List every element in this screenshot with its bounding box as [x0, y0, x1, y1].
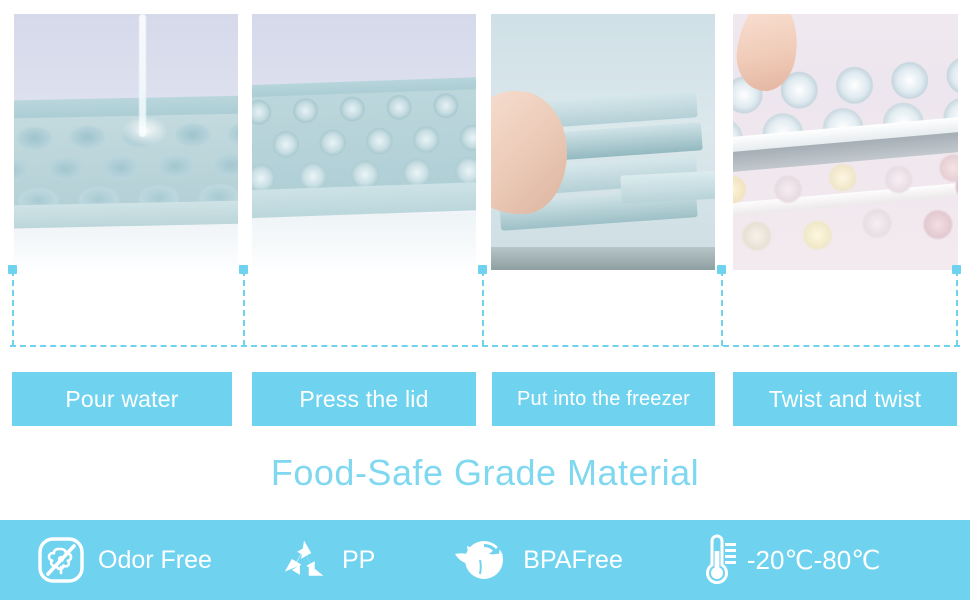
- feature-label-bpa-free: BPAFree: [523, 546, 623, 575]
- odor-free-icon: [36, 535, 86, 585]
- step-photo-twist: [733, 14, 958, 270]
- feature-bpa-free: BPAFree: [453, 520, 623, 600]
- feature-bar: Odor Free PP: [0, 520, 970, 600]
- feature-bar-dashed-divider: [0, 518, 970, 520]
- step-photo-strip: [0, 0, 970, 270]
- connector-line-vertical: [721, 270, 723, 346]
- step-photo-pour-water: [14, 14, 238, 270]
- step-label-freezer: Put into the freezer: [492, 372, 715, 426]
- feature-label-temperature-range: -20℃-80℃: [747, 545, 881, 576]
- step-label-pour-water: Pour water: [12, 372, 232, 426]
- step-photo-freezer: [491, 14, 715, 270]
- thermometer-icon: [697, 533, 745, 587]
- connector-line-vertical: [482, 270, 484, 346]
- connector-line-vertical: [956, 270, 958, 346]
- connector-line-vertical: [243, 270, 245, 346]
- ice-ball-domes: [252, 86, 476, 192]
- released-ice-balls: [733, 149, 958, 270]
- feature-pp: PP: [278, 520, 375, 600]
- water-splash: [122, 116, 168, 146]
- feature-label-odor-free: Odor Free: [98, 546, 212, 575]
- step-labels: Pour water Press the lid Put into the fr…: [0, 372, 970, 426]
- step-photo-press-lid: [252, 14, 476, 270]
- product-infographic: Pour water Press the lid Put into the fr…: [0, 0, 970, 600]
- step-label-press-lid: Press the lid: [252, 372, 476, 426]
- feature-odor-free: Odor Free: [36, 520, 212, 600]
- stacked-tray: [620, 170, 715, 204]
- eco-leaf-icon: [453, 534, 511, 586]
- dashed-connectors: [0, 262, 970, 354]
- feature-temperature-range: -20℃-80℃: [697, 520, 881, 600]
- headline: Food-Safe Grade Material: [0, 452, 970, 494]
- feature-label-pp: PP: [342, 546, 375, 575]
- connector-line-vertical: [12, 270, 14, 346]
- recycle-icon: [278, 535, 330, 585]
- connector-line-horizontal: [10, 345, 960, 347]
- step-label-twist: Twist and twist: [733, 372, 957, 426]
